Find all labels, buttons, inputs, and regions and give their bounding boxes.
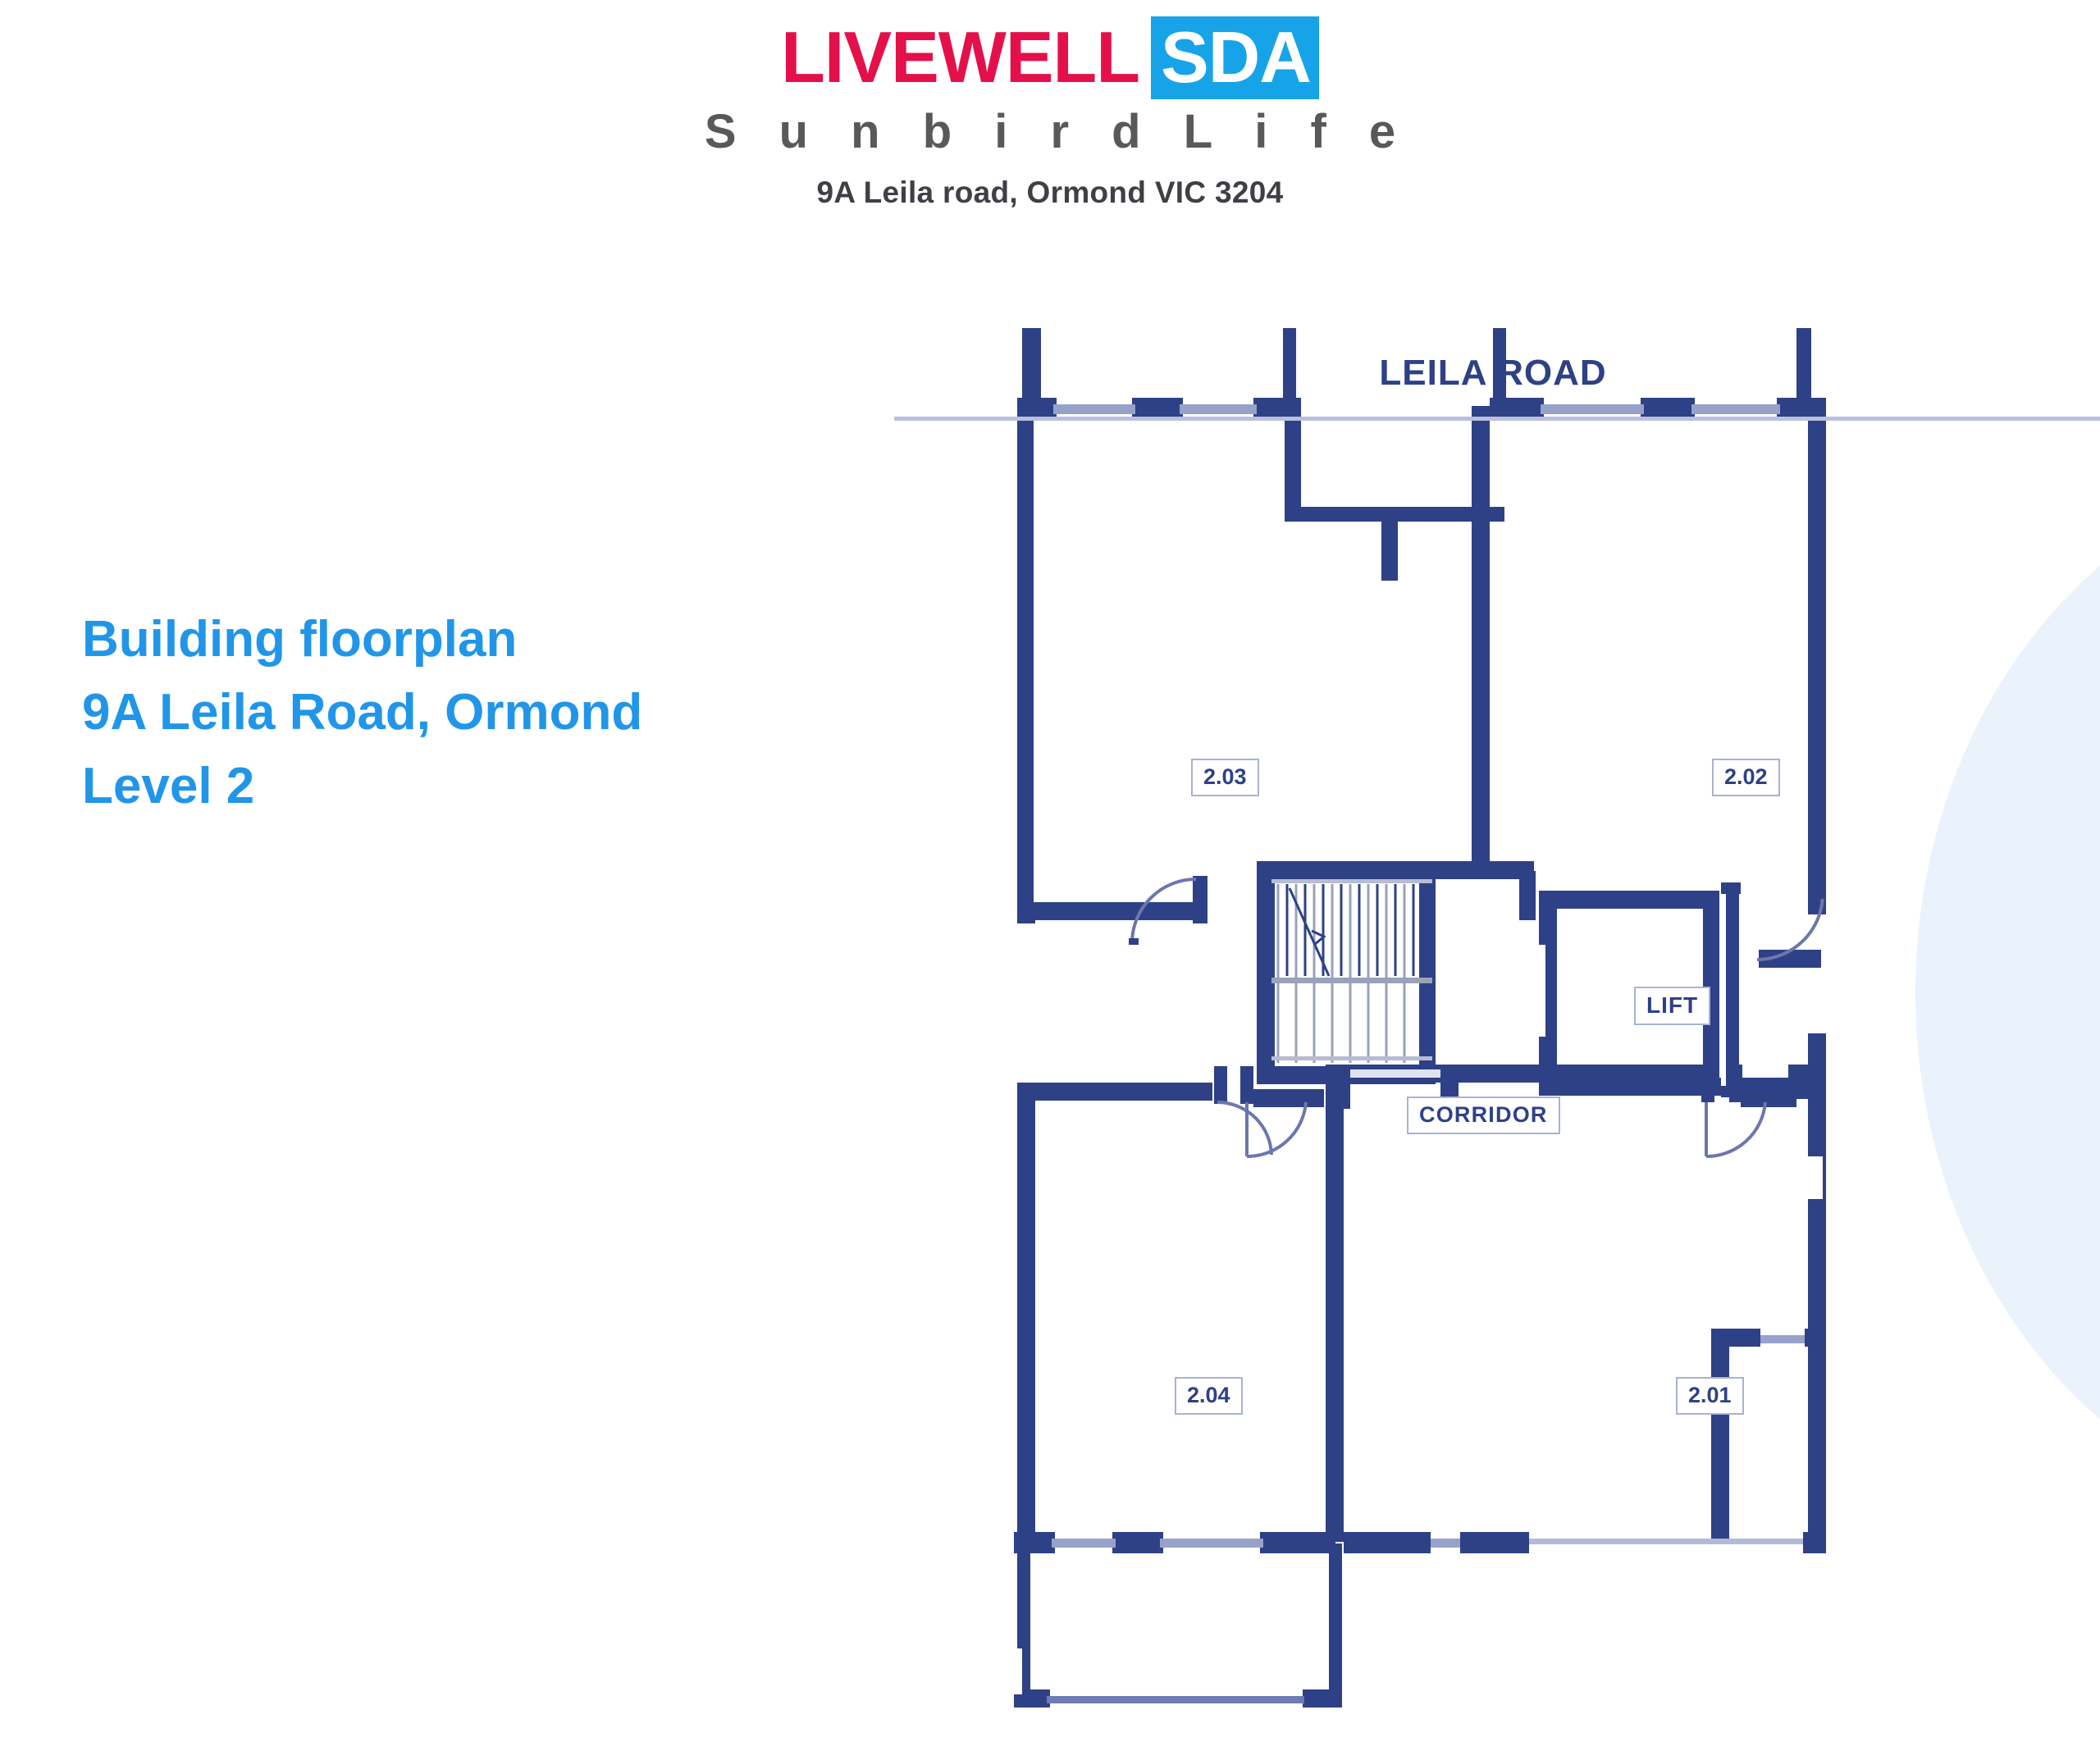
- logo-tagline: S u n b i r d L i f e: [0, 108, 2100, 156]
- brand-logo: LIVEWELLSDA S u n b i r d L i f e 9A Lei…: [0, 21, 2100, 207]
- page-title-line-3: Level 2: [82, 750, 642, 823]
- room-tag-2-01: 2.01: [1676, 1377, 1744, 1415]
- room-tag-2-03: 2.03: [1191, 759, 1259, 796]
- room-tag-2-04: 2.04: [1175, 1377, 1243, 1415]
- room-tag-2-02: 2.02: [1712, 759, 1780, 796]
- lift-label: LIFT: [1634, 987, 1710, 1025]
- logo-address: 9A Leila road, Ormond VIC 3204: [0, 177, 2100, 207]
- page-title: Building floorplan 9A Leila Road, Ormond…: [82, 603, 642, 823]
- page-title-line-1: Building floorplan: [82, 603, 642, 676]
- logo-sda-badge: SDA: [1151, 16, 1319, 99]
- road-boundary-line: [894, 417, 2100, 421]
- corridor-label: CORRIDOR: [1407, 1097, 1560, 1134]
- logo-wordmark: LIVEWELLSDA: [0, 21, 2100, 93]
- floorplan-drawing: [886, 328, 2100, 1760]
- page-title-line-2: 9A Leila Road, Ormond: [82, 676, 642, 749]
- logo-livewell-text: LIVEWELL: [781, 16, 1139, 98]
- leila-road-label: LEILA ROAD: [886, 353, 2100, 394]
